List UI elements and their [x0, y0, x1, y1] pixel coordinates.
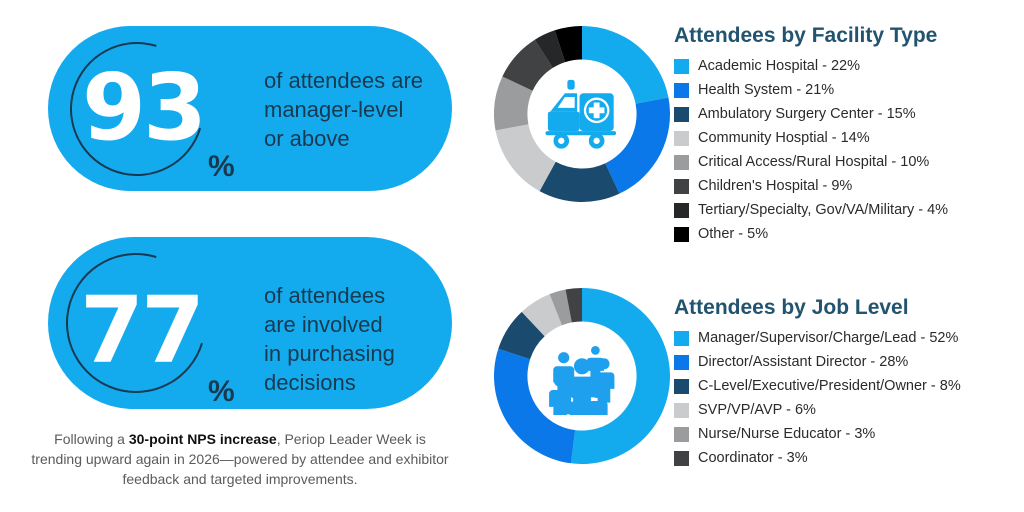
legend-item: Tertiary/Specialty, Gov/VA/Military - 4% — [674, 199, 1014, 221]
legend-item: Children's Hospital - 9% — [674, 175, 1014, 197]
legend-label: Other - 5% — [698, 226, 768, 242]
legend-swatch — [674, 427, 689, 442]
legend-title: Attendees by Job Level — [674, 296, 1014, 320]
legend-items: Manager/Supervisor/Charge/Lead - 52%Dire… — [674, 327, 1014, 469]
legend-swatch — [674, 155, 689, 170]
legend-label: Manager/Supervisor/Charge/Lead - 52% — [698, 330, 958, 346]
legend-label: C-Level/Executive/President/Owner - 8% — [698, 378, 961, 394]
legend-job-level: Attendees by Job Level Manager/Superviso… — [674, 296, 1014, 471]
caption-lead: Following a — [54, 431, 129, 447]
legend-item: C-Level/Executive/President/Owner - 8% — [674, 375, 1014, 397]
stat-number: 77 — [80, 285, 202, 377]
legend-item: Other - 5% — [674, 223, 1014, 245]
stat-pill-77: 77 % of attendees are involved in purcha… — [48, 237, 452, 409]
legend-swatch — [674, 107, 689, 122]
legend-swatch — [674, 83, 689, 98]
donut-svg — [494, 288, 670, 464]
legend-swatch — [674, 331, 689, 346]
donut-segment — [605, 98, 670, 194]
legend-swatch — [674, 451, 689, 466]
legend-label: Academic Hospital - 22% — [698, 58, 860, 74]
legend-item: Health System - 21% — [674, 79, 1014, 101]
stat-description: of attendees are manager-level or above — [264, 66, 449, 153]
stat-number: 93 — [82, 62, 204, 154]
legend-swatch — [674, 403, 689, 418]
legend-swatch — [674, 131, 689, 146]
legend-item: Community Hosptial - 14% — [674, 127, 1014, 149]
legend-swatch — [674, 179, 689, 194]
footnote-caption: Following a 30-point NPS increase, Perio… — [30, 430, 450, 490]
legend-item: Academic Hospital - 22% — [674, 55, 1014, 77]
legend-item: Nurse/Nurse Educator - 3% — [674, 423, 1014, 445]
stat-pill-93: 93 % of attendees are manager-level or a… — [48, 26, 452, 191]
donut-segment — [571, 288, 670, 464]
legend-swatch — [674, 203, 689, 218]
stat-description: of attendees are involved in purchasing … — [264, 281, 449, 397]
donut-chart-job-level — [494, 288, 670, 464]
legend-item: Manager/Supervisor/Charge/Lead - 52% — [674, 327, 1014, 349]
legend-label: Children's Hospital - 9% — [698, 178, 852, 194]
legend-label: Coordinator - 3% — [698, 450, 808, 466]
donut-segment — [494, 349, 575, 463]
legend-label: Health System - 21% — [698, 82, 834, 98]
legend-label: Director/Assistant Director - 28% — [698, 354, 908, 370]
legend-item: Ambulatory Surgery Center - 15% — [674, 103, 1014, 125]
stat-percent-symbol: % — [208, 377, 235, 407]
legend-swatch — [674, 59, 689, 74]
legend-label: Tertiary/Specialty, Gov/VA/Military - 4% — [698, 202, 948, 218]
legend-item: Critical Access/Rural Hospital - 10% — [674, 151, 1014, 173]
donut-chart-facility-type — [494, 26, 670, 202]
legend-items: Academic Hospital - 22%Health System - 2… — [674, 55, 1014, 245]
legend-title: Attendees by Facility Type — [674, 24, 1014, 48]
legend-swatch — [674, 227, 689, 242]
caption-bold: 30-point NPS increase — [129, 431, 277, 447]
legend-label: Critical Access/Rural Hospital - 10% — [698, 154, 929, 170]
donut-segment — [582, 26, 668, 104]
stat-percent-symbol: % — [208, 152, 235, 182]
legend-item: SVP/VP/AVP - 6% — [674, 399, 1014, 421]
legend-item: Director/Assistant Director - 28% — [674, 351, 1014, 373]
legend-swatch — [674, 355, 689, 370]
legend-facility-type: Attendees by Facility Type Academic Hosp… — [674, 24, 1014, 247]
legend-label: Nurse/Nurse Educator - 3% — [698, 426, 875, 442]
legend-swatch — [674, 379, 689, 394]
donut-svg — [494, 26, 670, 202]
infographic-canvas: 93 % of attendees are manager-level or a… — [0, 0, 1024, 512]
legend-item: Coordinator - 3% — [674, 447, 1014, 469]
legend-label: Community Hosptial - 14% — [698, 130, 870, 146]
legend-label: SVP/VP/AVP - 6% — [698, 402, 816, 418]
legend-label: Ambulatory Surgery Center - 15% — [698, 106, 916, 122]
